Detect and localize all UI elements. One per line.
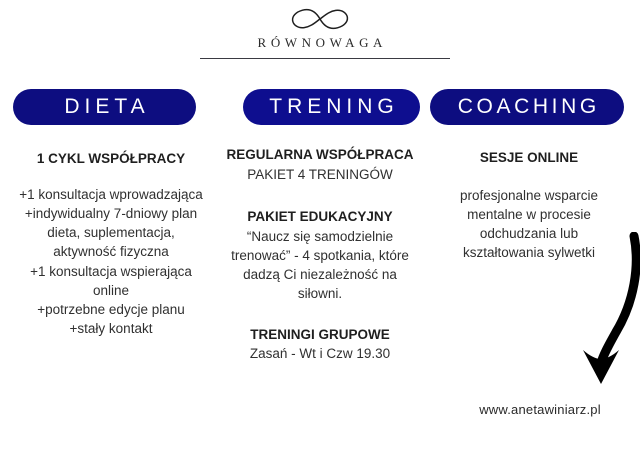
trening-heading-2: PAKIET EDUKACYJNY — [224, 209, 416, 226]
website-url[interactable]: www.anetawiniarz.pl — [440, 402, 640, 417]
pill-coaching[interactable]: COACHING — [430, 89, 624, 125]
trening-body-3: Zasań - Wt i Czw 19.30 — [224, 344, 416, 363]
pill-dieta[interactable]: DIETA — [13, 89, 196, 125]
header-divider — [200, 58, 450, 59]
trening-heading: REGULARNA WSPÓŁPRACA — [224, 147, 416, 164]
trening-subheading: PAKIET 4 TRENINGÓW — [224, 165, 416, 184]
coaching-heading: SESJE ONLINE — [424, 150, 634, 167]
service-columns: DIETA 1 CYKL WSPÓŁPRACY +1 konsultacja w… — [0, 89, 640, 364]
trening-heading-3: TRENINGI GRUPOWE — [224, 327, 416, 344]
poster-canvas: RÓWNOWAGA DIETA 1 CYKL WSPÓŁPRACY +1 kon… — [0, 0, 640, 451]
column-trening: TRENING REGULARNA WSPÓŁPRACA PAKIET 4 TR… — [222, 89, 418, 364]
trening-body-2: “Naucz się samodzielnie trenować” - 4 sp… — [224, 227, 416, 304]
infinity-symbol-icon — [289, 6, 351, 32]
dieta-body: +1 konsultacja wprowadzająca +indywidual… — [6, 185, 216, 338]
curved-down-arrow-icon — [560, 232, 640, 392]
brand-name: RÓWNOWAGA — [0, 35, 640, 51]
brand-header: RÓWNOWAGA — [0, 6, 640, 51]
dieta-heading: 1 CYKL WSPÓŁPRACY — [6, 151, 216, 168]
pill-trening[interactable]: TRENING — [243, 89, 420, 125]
column-dieta: DIETA 1 CYKL WSPÓŁPRACY +1 konsultacja w… — [0, 89, 222, 338]
